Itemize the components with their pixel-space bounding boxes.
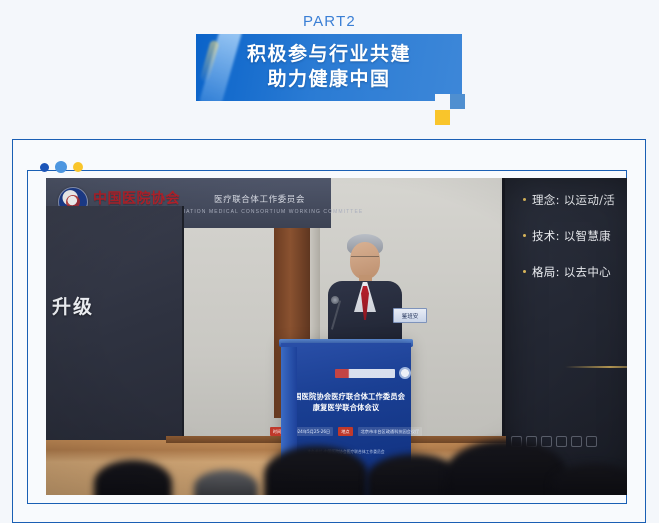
banner-title-line-1: 积极参与行业共建 xyxy=(247,44,411,66)
podium-badge-icon xyxy=(399,367,411,379)
banner-title-group: 积极参与行业共建 助力健康中国 xyxy=(196,34,462,101)
dot-light-blue-icon xyxy=(55,161,67,173)
podium-title: 中国医院协会医疗联合体工作委员会 康复医学联合体会议 xyxy=(281,391,411,413)
deco-square-empty-top-left xyxy=(435,94,450,109)
part-label: PART2 xyxy=(0,13,659,30)
photo-scene: 中国医院协会 医疗联合体工作委员会 CHINESE HOSPITAL ASSOC… xyxy=(46,178,627,495)
pen-icon xyxy=(541,436,552,447)
glasses-icon xyxy=(351,256,379,263)
podium-title-line-2: 康复医学联合体会议 xyxy=(281,402,411,413)
podium-tag-place-label: 地点 xyxy=(338,427,352,436)
conference-photo: 中国医院协会 医疗联合体工作委员会 CHINESE HOSPITAL ASSOC… xyxy=(46,178,627,495)
dot-dark-blue-icon xyxy=(40,163,49,172)
speaker-figure xyxy=(322,226,408,351)
copy-icon xyxy=(556,436,567,447)
right-screen-bullet-list: 理念: 以运动/活 技术: 以智慧康 格局: 以去中心 xyxy=(523,192,627,300)
audience-head xyxy=(264,446,368,495)
speaker-nameplate: 鉴班安 xyxy=(393,308,427,323)
right-display-screen: 理念: 以运动/活 技术: 以智慧康 格局: 以去中心 xyxy=(502,178,627,483)
association-name-cn: 中国医院协会 xyxy=(93,188,180,208)
minimize-icon xyxy=(586,436,597,447)
podium-logo-icon xyxy=(335,369,395,378)
podium-info-tags: 时间 2024年5月25-26日 地点 北京市丰台区政通科技园会议厅 xyxy=(281,427,411,436)
microphone-icon xyxy=(331,296,339,304)
deco-square-blue xyxy=(450,94,465,109)
screen-highlight-strip xyxy=(565,366,627,368)
left-display-screen: 升级 xyxy=(46,206,184,474)
bullet-dot-icon xyxy=(523,270,526,273)
association-committee-cn: 医疗联合体工作委员会 xyxy=(214,193,305,205)
bullet-item: 格局: 以去中心 xyxy=(523,264,627,280)
bullet-item: 技术: 以智慧康 xyxy=(523,228,627,244)
bullet-item: 理念: 以运动/活 xyxy=(523,192,627,208)
banner-title-line-2: 助力健康中国 xyxy=(267,69,390,91)
page-header: PART2 积极参与行业共建 助力健康中国 xyxy=(0,0,659,128)
deco-square-yellow xyxy=(435,110,450,125)
decorative-dot-row xyxy=(40,161,83,173)
bullet-dot-icon xyxy=(523,234,526,237)
audience-head xyxy=(446,440,566,495)
bullet-text-3: 格局: 以去中心 xyxy=(532,264,611,280)
podium-tag-place-value: 北京市丰台区政通科技园会议厅 xyxy=(358,427,423,436)
bullet-text-2: 技术: 以智慧康 xyxy=(532,228,611,244)
left-screen-text: 升级 xyxy=(52,292,94,319)
section-title-banner: 积极参与行业共建 助力健康中国 xyxy=(196,34,462,101)
bullet-text-1: 理念: 以运动/活 xyxy=(532,192,615,208)
deco-square-empty-bottom-right xyxy=(450,110,465,125)
bullet-dot-icon xyxy=(523,198,526,201)
podium-title-line-1: 中国医院协会医疗联合体工作委员会 xyxy=(281,391,411,402)
search-icon xyxy=(571,436,582,447)
dot-yellow-icon xyxy=(73,162,83,172)
